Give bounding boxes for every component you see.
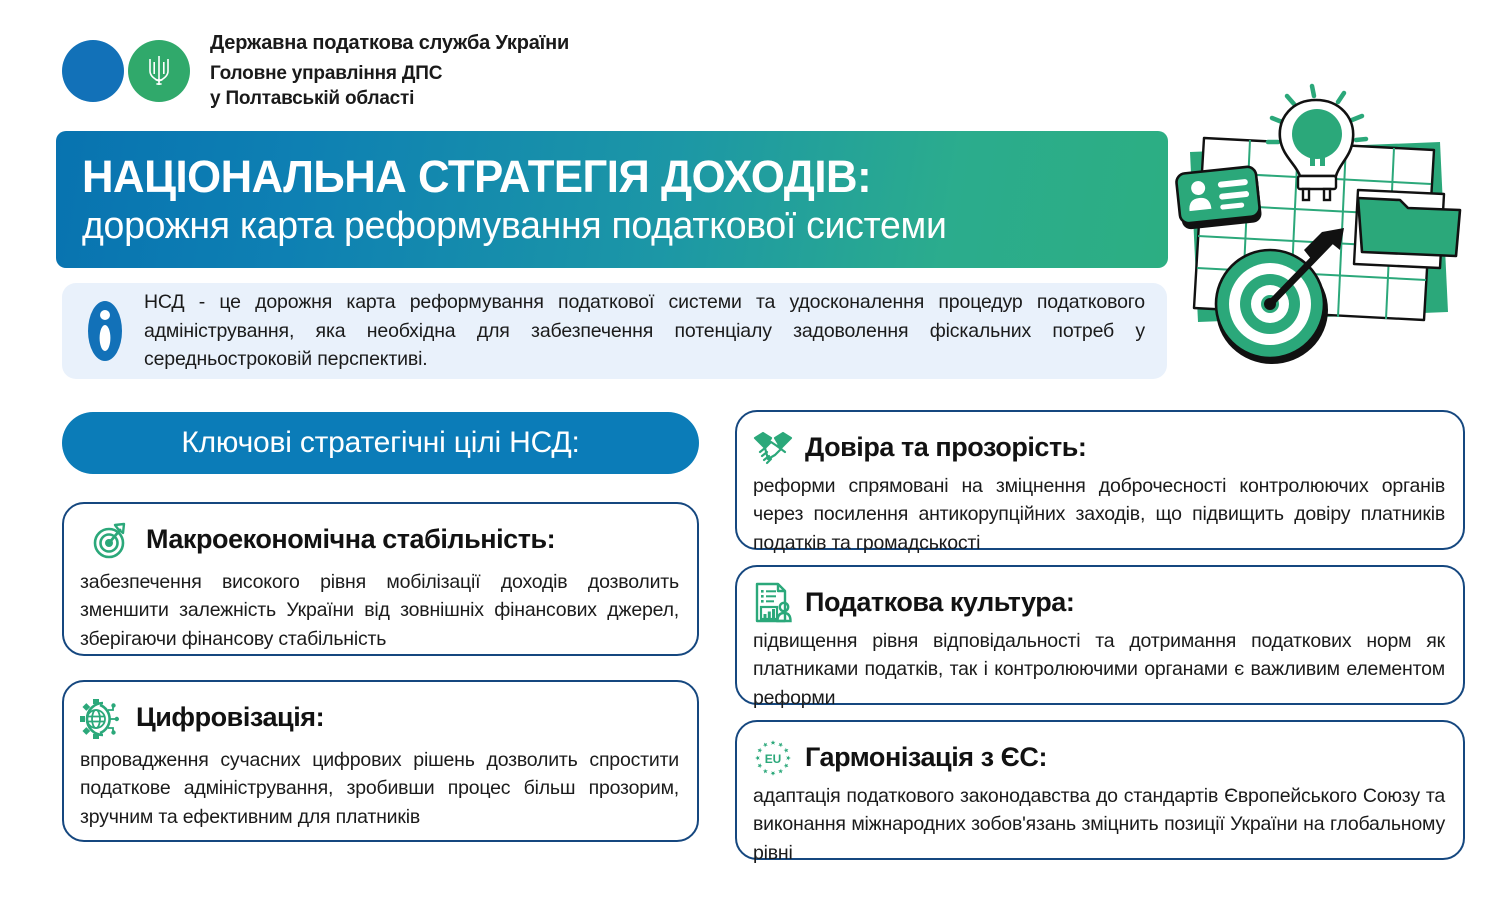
dps-trident-circle-icon xyxy=(128,40,190,102)
card-title: Податкова культура: xyxy=(805,588,1074,618)
org-name-line2b: у Полтавській області xyxy=(210,86,569,111)
org-name-line1: Державна податкова служба України xyxy=(210,30,569,57)
card-body: підвищення рівня відповідальності та дот… xyxy=(751,627,1447,712)
info-callout-text: НСД - це дорожня карта реформування пода… xyxy=(144,288,1145,374)
card-body: реформи спрямовані на зміцнення доброчес… xyxy=(751,472,1447,557)
card-header: Податкова культура: xyxy=(751,581,1447,625)
card-title: Цифровізація: xyxy=(136,703,324,733)
eu-stars-icon: EU xyxy=(751,736,795,780)
brand-header: Державна податкова служба України Головн… xyxy=(62,30,569,111)
gear-globe-icon xyxy=(78,696,122,740)
card-body: впровадження сучасних цифрових рішень до… xyxy=(78,746,681,831)
card-body: адаптація податкового законодавства до с… xyxy=(751,782,1447,867)
card-header: Цифровізація: xyxy=(78,696,681,740)
target-dart-icon xyxy=(1216,228,1344,364)
org-name-line2a: Головне управління ДПС xyxy=(210,61,569,86)
info-callout: НСД - це дорожня карта реформування пода… xyxy=(62,283,1167,379)
card-title: Довіра та прозорість: xyxy=(805,433,1086,463)
card-header: EU Гармонізація з ЄС: xyxy=(751,736,1447,780)
strategy-illustration xyxy=(1172,72,1492,384)
target-dart-icon xyxy=(86,518,130,562)
logo-marks xyxy=(62,40,190,102)
card-title: Макроекономічна стабільність: xyxy=(146,525,555,555)
goals-section-label: Ключові стратегічні цілі НСД: xyxy=(181,426,579,460)
page-subtitle: дорожня карта реформування податкової си… xyxy=(82,205,1126,248)
card-header: Довіра та прозорість: xyxy=(751,426,1447,470)
goal-card-trust-transparency[interactable]: Довіра та прозорість: реформи спрямовані… xyxy=(735,410,1465,550)
dps-blue-circle-icon xyxy=(62,40,124,102)
grid-paper xyxy=(1194,138,1434,320)
goal-card-macroeconomic-stability[interactable]: Макроекономічна стабільність: забезпечен… xyxy=(62,502,699,656)
svg-text:EU: EU xyxy=(765,752,782,766)
green-sheet xyxy=(1190,142,1448,322)
document-chart-person-icon xyxy=(751,581,795,625)
card-title: Гармонізація з ЄС: xyxy=(805,743,1047,773)
goal-card-eu-harmonization[interactable]: EU Гармонізація з ЄС: адаптація податков… xyxy=(735,720,1465,860)
lightbulb-icon xyxy=(1268,86,1366,200)
goals-section-pill: Ключові стратегічні цілі НСД: xyxy=(62,412,699,474)
id-card-icon xyxy=(1176,166,1263,230)
page-title: НАЦІОНАЛЬНА СТРАТЕГІЯ ДОХОДІВ: xyxy=(82,153,1110,202)
handshake-icon xyxy=(751,426,795,470)
org-name-block: Державна податкова служба України Головн… xyxy=(210,30,569,111)
title-banner: НАЦІОНАЛЬНА СТРАТЕГІЯ ДОХОДІВ: дорожня к… xyxy=(56,131,1168,268)
card-header: Макроекономічна стабільність: xyxy=(78,518,681,562)
card-body: забезпечення високого рівня мобілізації … xyxy=(78,568,681,653)
goal-card-tax-culture[interactable]: Податкова культура: підвищення рівня від… xyxy=(735,565,1465,705)
folder-icon xyxy=(1354,190,1460,268)
info-circle-icon xyxy=(84,300,126,362)
goal-card-digitalization[interactable]: Цифровізація: впровадження сучасних цифр… xyxy=(62,680,699,842)
